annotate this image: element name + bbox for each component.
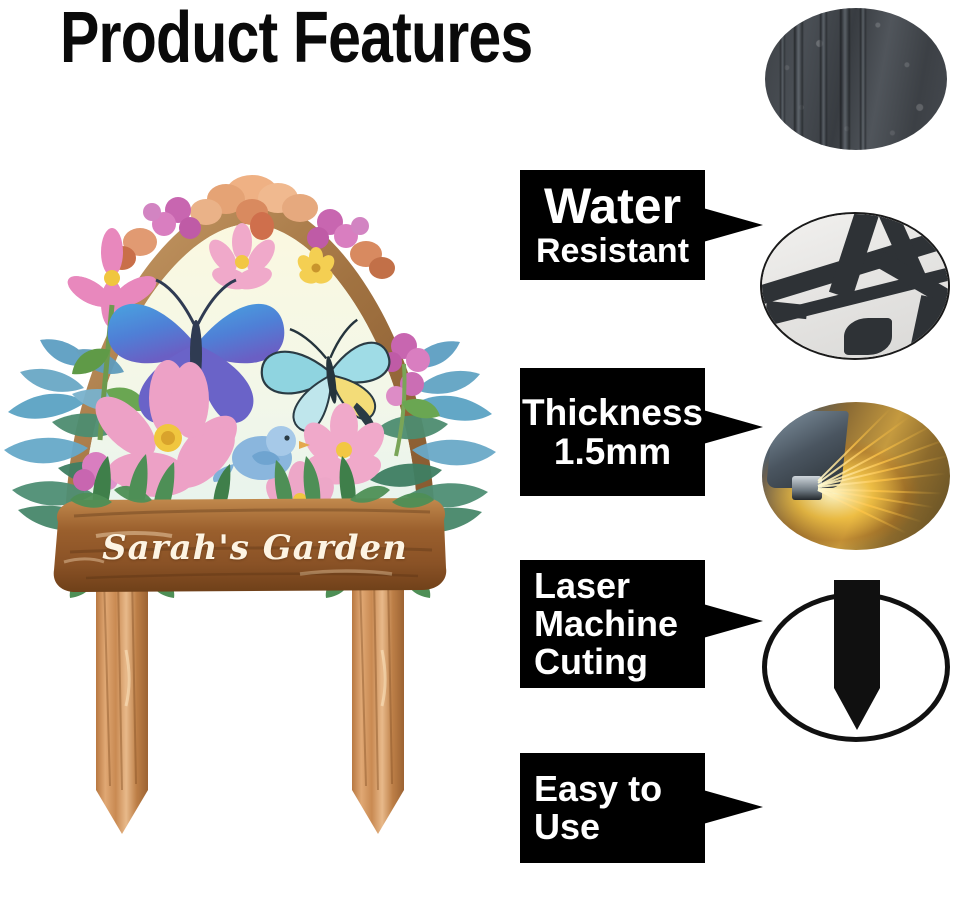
feature-label-line: Cuting xyxy=(534,643,648,681)
feature-label-line: Easy to xyxy=(534,770,662,808)
pointer-arrow-water-resistant xyxy=(703,208,763,242)
product-features-infographic: Product Features xyxy=(0,0,954,900)
feature-label-line: Laser xyxy=(534,567,630,605)
feature-label-line: Resistant xyxy=(536,233,689,269)
pointer-arrow-laser-cutting xyxy=(703,604,763,638)
feature-label-line: Thickness xyxy=(522,393,703,432)
stake-left xyxy=(96,570,148,834)
wooden-plank xyxy=(54,498,447,592)
feature-label-line: Use xyxy=(534,808,600,846)
feature-label-thickness: Thickness 1.5mm xyxy=(520,368,705,496)
pointer-arrow-thickness xyxy=(703,410,763,444)
feature-label-laser-cutting: Laser Machine Cuting xyxy=(520,560,705,688)
pointer-arrow-easy-to-use xyxy=(703,790,763,824)
feature-media-thickness xyxy=(760,212,950,360)
feature-media-water-resistant xyxy=(765,8,947,150)
feature-label-line: 1.5mm xyxy=(554,432,671,471)
feature-label-water-resistant: Water Resistant xyxy=(520,170,705,280)
feature-label-easy-to-use: Easy to Use xyxy=(520,753,705,863)
feature-media-laser-cutting xyxy=(762,402,950,550)
feature-label-line: Machine xyxy=(534,605,678,643)
garden-sign-illustration xyxy=(0,150,500,880)
stake-right xyxy=(352,570,404,834)
feature-media-easy-to-use xyxy=(762,592,950,742)
page-title: Product Features xyxy=(60,2,532,74)
product-image: Sarah's Garden xyxy=(0,150,500,880)
ground-stake-icon xyxy=(762,580,950,750)
feature-label-line: Water xyxy=(544,180,681,233)
